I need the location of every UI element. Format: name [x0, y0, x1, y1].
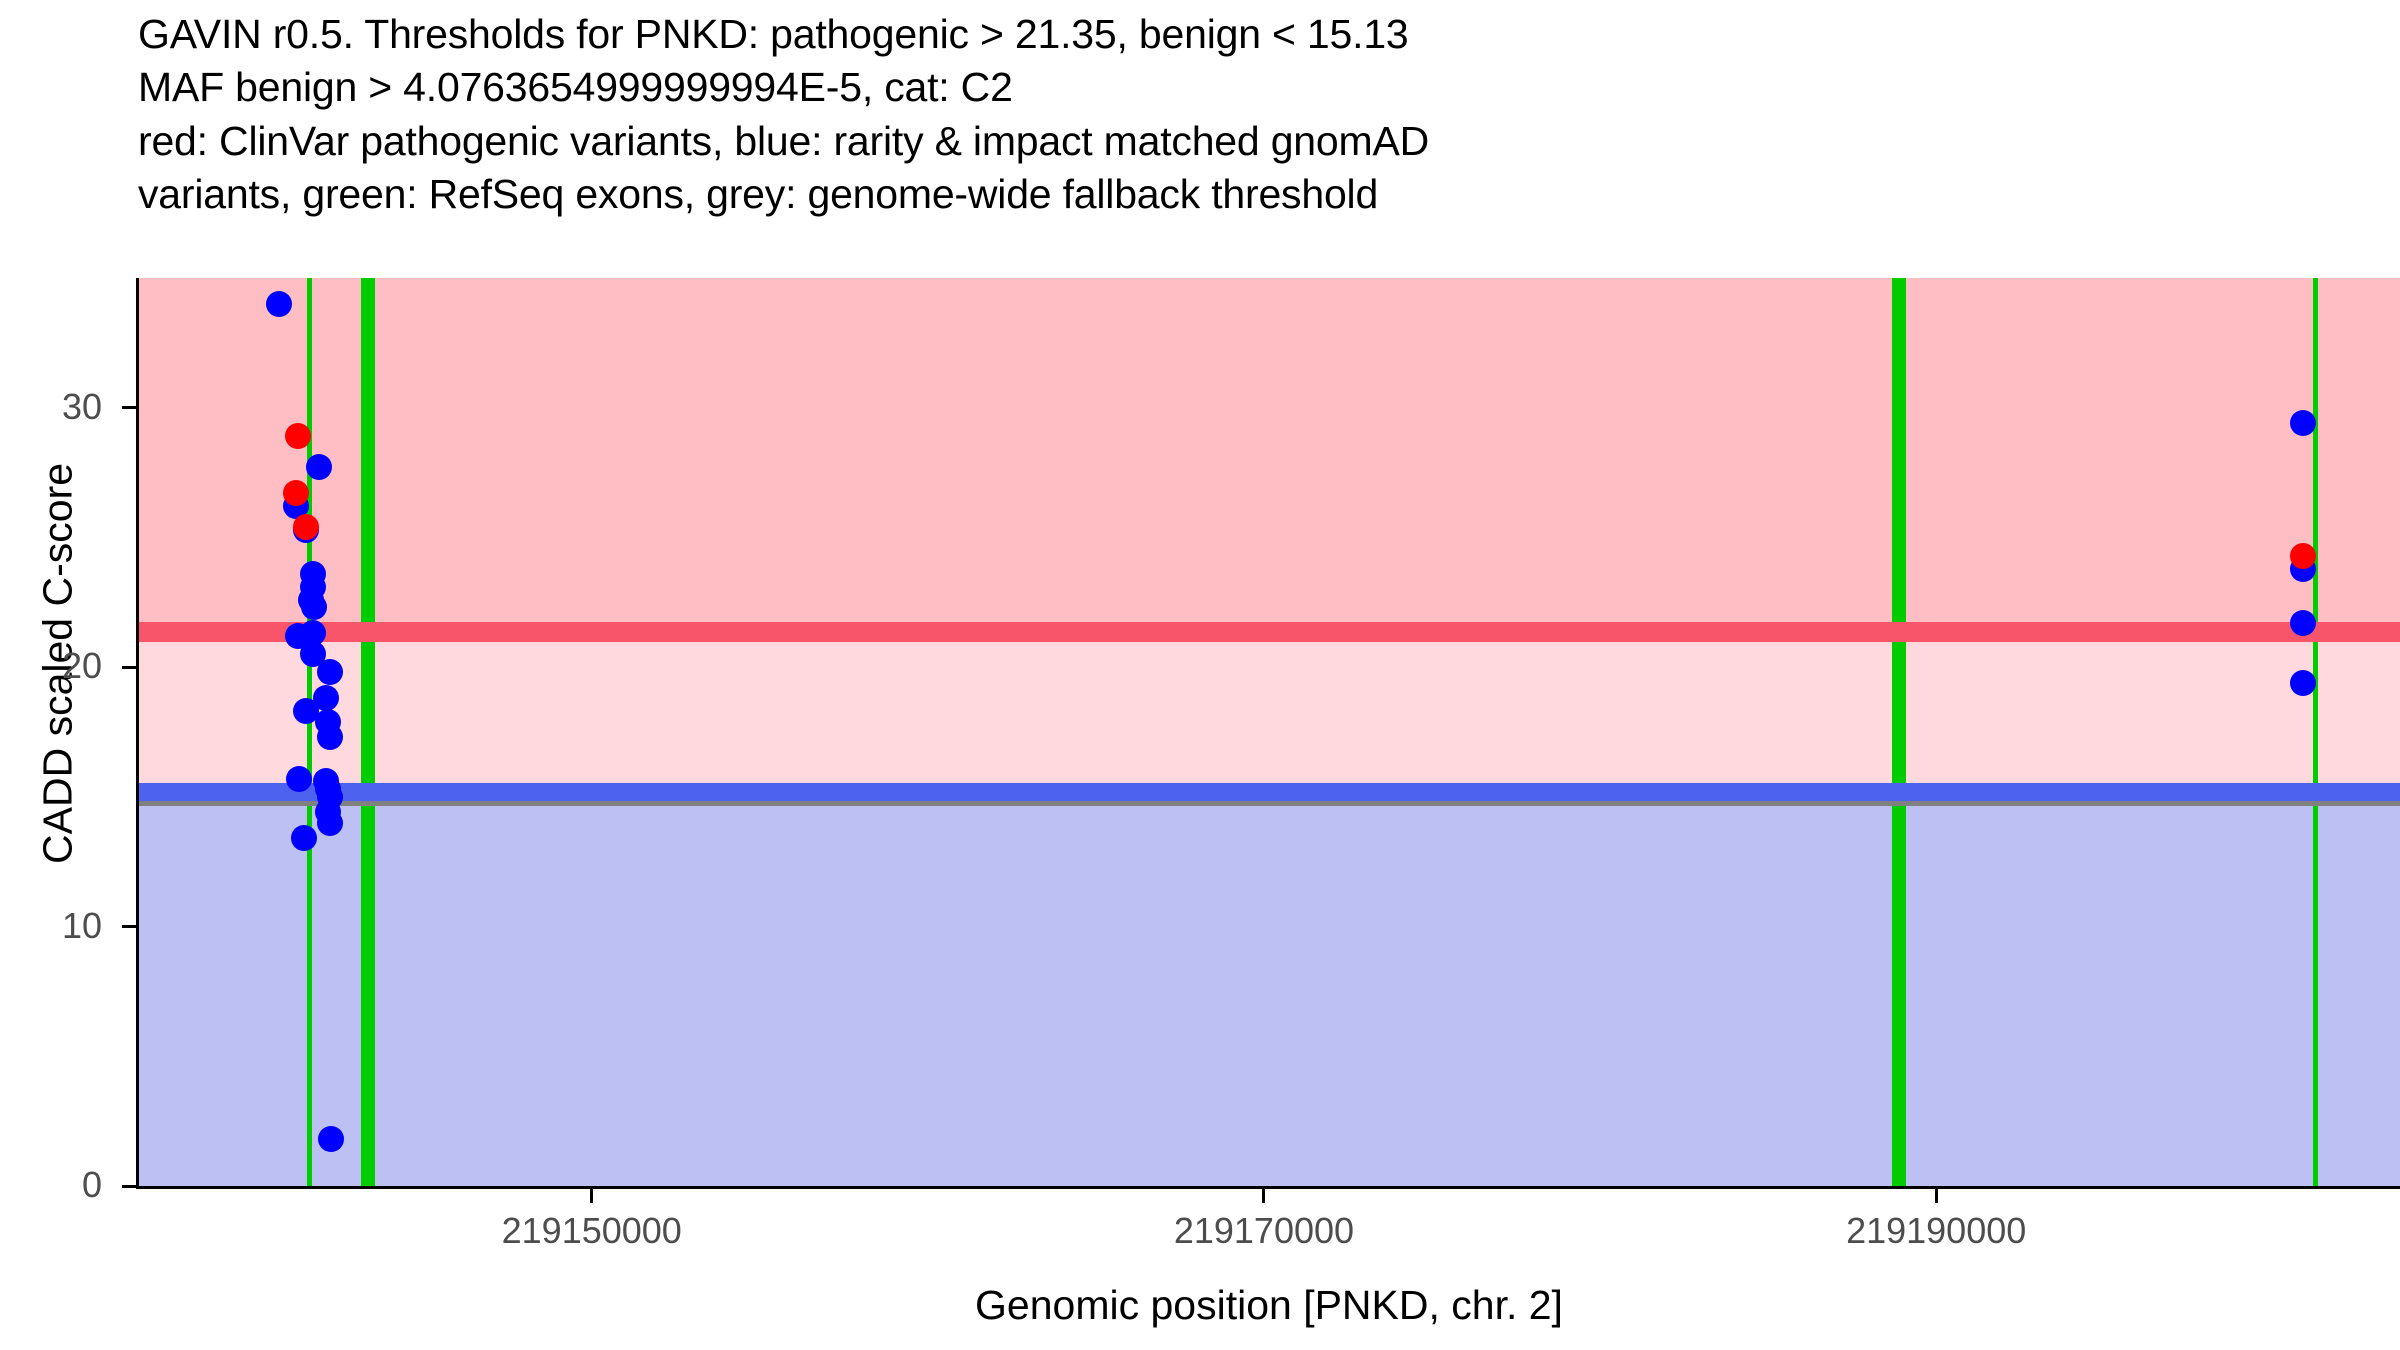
- x-tick: [1262, 1189, 1265, 1203]
- y-tick: [122, 666, 136, 669]
- y-tick-label: 30: [12, 386, 102, 428]
- data-point: [2290, 670, 2316, 696]
- fallback-threshold-line: [138, 801, 2400, 806]
- y-tick-label: 20: [12, 645, 102, 687]
- band-pathogenic: [138, 278, 2400, 632]
- band-vus: [138, 632, 2400, 793]
- data-point: [285, 423, 311, 449]
- y-tick: [122, 1185, 136, 1188]
- data-point: [286, 766, 312, 792]
- exon-line: [307, 278, 312, 1186]
- data-point: [2290, 410, 2316, 436]
- data-point: [317, 724, 343, 750]
- title-line-1: GAVIN r0.5. Thresholds for PNKD: pathoge…: [138, 8, 2318, 61]
- data-point: [2290, 610, 2316, 636]
- chart-title: GAVIN r0.5. Thresholds for PNKD: pathoge…: [138, 8, 2318, 221]
- data-point: [266, 291, 292, 317]
- exon-line: [361, 278, 375, 1186]
- chart-root: GAVIN r0.5. Thresholds for PNKD: pathoge…: [0, 0, 2400, 1350]
- x-tick-label: 219150000: [432, 1210, 752, 1252]
- data-point: [2290, 543, 2316, 569]
- exon-line: [1892, 278, 1906, 1186]
- data-point: [293, 514, 319, 540]
- x-tick-label: 219170000: [1104, 1210, 1424, 1252]
- plot-panel: [138, 278, 2400, 1186]
- title-line-3: red: ClinVar pathogenic variants, blue: …: [138, 115, 2318, 168]
- title-line-2: MAF benign > 4.0763654999999994E-5, cat:…: [138, 61, 2318, 114]
- x-axis-title: Genomic position [PNKD, chr. 2]: [138, 1282, 2400, 1329]
- y-axis-line: [136, 278, 139, 1186]
- pathogenic-threshold-line: [138, 622, 2400, 642]
- x-tick: [1935, 1189, 1938, 1203]
- x-tick: [590, 1189, 593, 1203]
- y-tick: [122, 406, 136, 409]
- y-tick: [122, 925, 136, 928]
- x-axis-line: [136, 1186, 2400, 1189]
- y-tick-label: 0: [12, 1164, 102, 1206]
- data-point: [317, 659, 343, 685]
- band-benign: [138, 793, 2400, 1186]
- y-tick-label: 10: [12, 905, 102, 947]
- x-tick-label: 219190000: [1776, 1210, 2096, 1252]
- exon-line: [2313, 278, 2318, 1186]
- title-line-4: variants, green: RefSeq exons, grey: gen…: [138, 168, 2318, 221]
- data-point: [317, 810, 343, 836]
